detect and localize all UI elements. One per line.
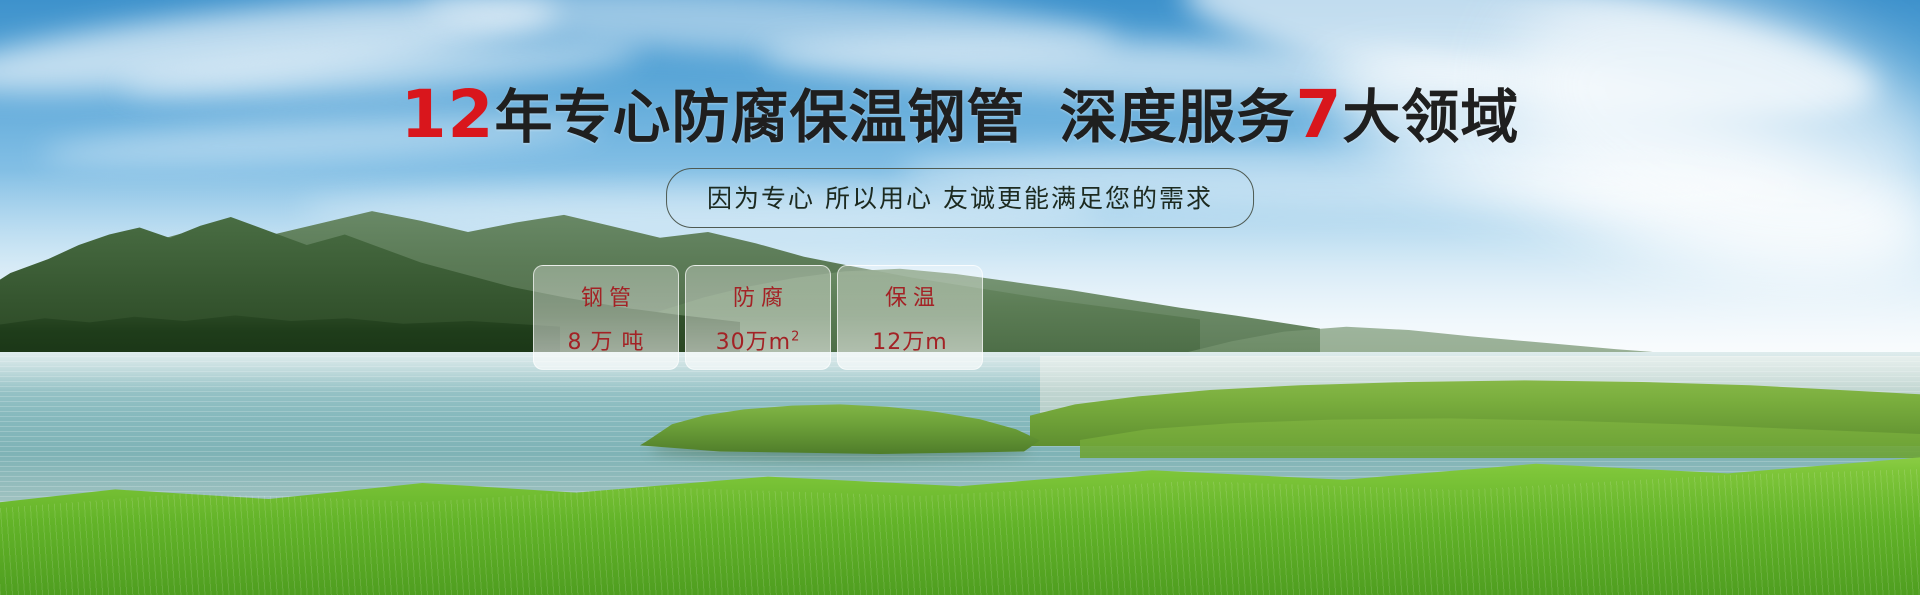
stat-card-value: 12万m [872, 324, 947, 356]
stat-card-title: 钢管 [575, 280, 637, 312]
stat-card-value-text: 12万m [872, 330, 947, 355]
banner-headline: 12年专心防腐保温钢管深度服务7大领域 [0, 82, 1920, 148]
stat-card-value-text: 8 万 吨 [568, 330, 645, 355]
stat-card-value: 8 万 吨 [568, 324, 645, 356]
stats-card-group: 钢管 8 万 吨 防腐 30万m2 保温 12万m [533, 265, 983, 370]
stat-card-insulation[interactable]: 保温 12万m [837, 265, 983, 370]
stat-card-value-superscript: 2 [791, 329, 800, 344]
stat-card-steel-pipe[interactable]: 钢管 8 万 吨 [533, 265, 679, 370]
banner-subtitle-pill: 因为专心 所以用心 友诚更能满足您的需求 [666, 168, 1254, 228]
headline-service-text: 深度服务 [1059, 83, 1295, 151]
headline-main-text: 年专心防腐保温钢管 [494, 83, 1025, 151]
headline-fields-text: 大领域 [1342, 83, 1519, 151]
stat-card-title: 保温 [879, 280, 941, 312]
stat-card-anticorrosion[interactable]: 防腐 30万m2 [685, 265, 831, 370]
headline-years-number: 12 [401, 76, 495, 153]
stat-card-value-text: 30万m [716, 330, 791, 355]
promo-banner: 12年专心防腐保温钢管深度服务7大领域 因为专心 所以用心 友诚更能满足您的需求… [0, 0, 1920, 595]
stat-card-value: 30万m2 [716, 324, 801, 356]
headline-fields-number: 7 [1295, 76, 1342, 153]
stat-card-title: 防腐 [727, 280, 789, 312]
banner-subtitle-text: 因为专心 所以用心 友诚更能满足您的需求 [707, 184, 1213, 213]
banner-content: 12年专心防腐保温钢管深度服务7大领域 因为专心 所以用心 友诚更能满足您的需求… [0, 0, 1920, 595]
